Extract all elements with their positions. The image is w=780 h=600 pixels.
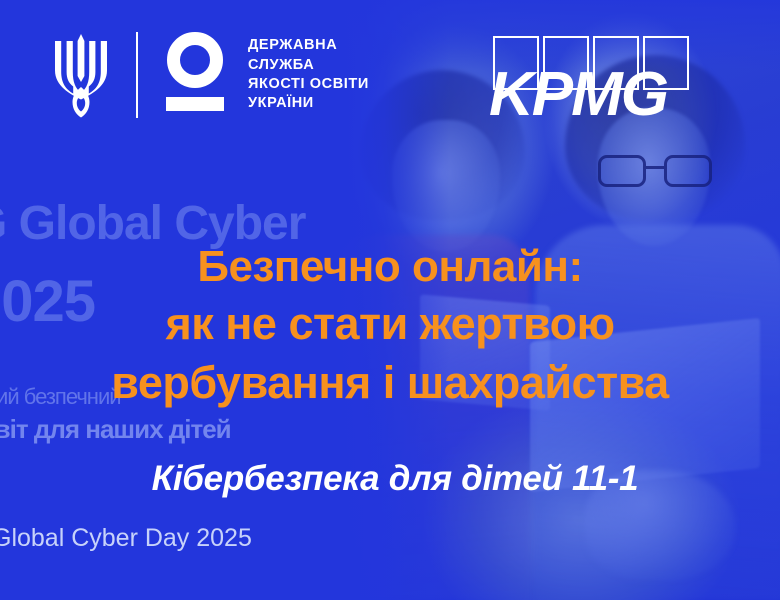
sqe-bar-shape <box>166 97 224 111</box>
logo-divider <box>136 32 138 118</box>
agency-name-line-3: ЯКОСТІ ОСВІТИ <box>248 75 369 94</box>
agency-name-line-4: УКРАЇНИ <box>248 94 369 113</box>
headline-line-2: як не стати жертвою <box>0 295 780 354</box>
agency-name-line-2: СЛУЖБА <box>248 56 369 75</box>
sqe-ring-shape <box>167 32 223 88</box>
page-title: Безпечно онлайн: як не стати жертвою вер… <box>0 238 780 412</box>
footer-event-label: Global Cyber Day 2025 <box>0 524 252 553</box>
agency-name-line-1: ДЕРЖАВНА <box>248 36 369 55</box>
page-subtitle: Кібербезпека для дітей 11-1 <box>0 459 780 499</box>
headline-line-1: Безпечно онлайн: <box>0 238 780 295</box>
headline-line-3: вербування і шахрайства <box>0 354 780 413</box>
ghost-subtitle-line2: й світ для наших дітей <box>0 414 231 445</box>
agency-name-block: ДЕРЖАВНА СЛУЖБА ЯКОСТІ ОСВІТИ УКРАЇНИ <box>248 36 369 113</box>
header-logo-group: ДЕРЖАВНА СЛУЖБА ЯКОСТІ ОСВІТИ УКРАЇНИ <box>52 32 369 118</box>
ukraine-trident-icon <box>52 32 110 118</box>
kpmg-logo: KPMG <box>493 36 697 124</box>
kpmg-wordmark: KPMG <box>489 64 667 126</box>
sqe-ring-icon <box>164 32 226 118</box>
poster-canvas: G Global Cyber 2025 мовий безпечний й св… <box>0 0 780 600</box>
